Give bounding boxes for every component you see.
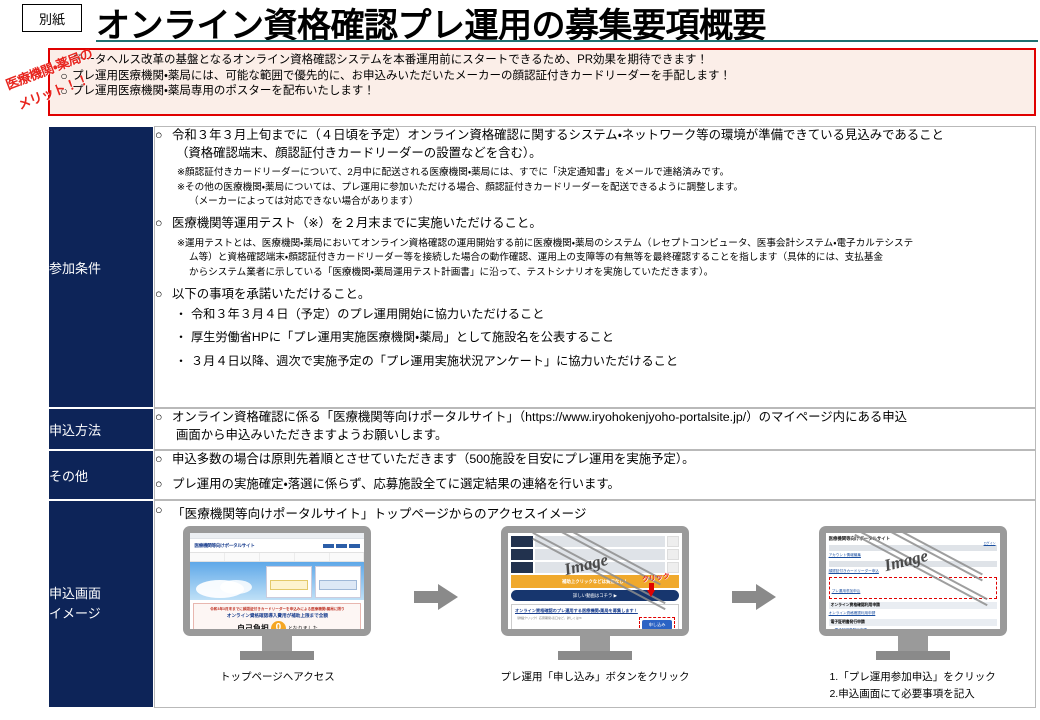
account-edit-link[interactable]: アカウント情報編集 — [829, 553, 997, 558]
condition-1-line2: （資格確認端末、顔認証付きカードリーダーの設置などを含む）。 — [172, 145, 1035, 163]
hero-cards — [266, 566, 361, 598]
page-body: 医療機関等向けポータルサイト ログイン アカウント情報編集 顔認証付きカードリー… — [826, 533, 1000, 629]
certificate-issue-link[interactable]: 電子証明書発行申請 — [829, 628, 997, 629]
row-label-line1: 申込画面 — [49, 584, 153, 604]
row-content-conditions: ○ 令和３年３月上旬までに（４日頃を予定）オンライン資格確認に関するシステム・ネ… — [154, 126, 1036, 408]
note-1-line1: ※顔認証付きカードリーダーについて、2月中に配送される医療機関・薬局には、すでに… — [177, 167, 729, 178]
bullet-text: ３月４日以降、週次で実施予定の「プレ運用実施状況アンケート」に協力いただけること — [191, 353, 678, 369]
card-reader-apply-link[interactable]: 顔認証付きカードリーダー申込 — [829, 569, 997, 574]
hero-card — [266, 566, 312, 598]
condition-3-bullets: ・ 令和３年３月４日（予定）のプレ運用開始に協力いただけること ・ 厚生労働省H… — [175, 306, 1035, 369]
circle-bullet-icon: ○ — [155, 215, 172, 233]
apply-button[interactable]: 申し込み — [642, 620, 673, 630]
bullet-item: ・ 令和３年３月４日（予定）のプレ運用開始に協力いただけること — [175, 306, 1035, 322]
others-text: プレ運用の実施確定・落選に係らず、応募施設全てに選定結果の連絡を行います。 — [172, 476, 1035, 494]
hero-banner — [190, 562, 364, 600]
promo-tail-text: となりました — [288, 625, 318, 630]
circle-bullet-icon: ○ — [56, 85, 72, 98]
header-buttons — [323, 544, 360, 548]
mypage-title: 医療機関等向けポータルサイト — [829, 536, 997, 542]
access-flow: 医療機関等向けポータルサイト — [155, 526, 1035, 703]
hero-card — [315, 566, 361, 598]
condition-item-1: ○ 令和３年３月上旬までに（４日頃を予定）オンライン資格確認に関するシステム・ネ… — [155, 127, 1035, 162]
table-row-others: その他 ○ 申込多数の場合は原則先着順とさせていただきます（500施設を目安にプ… — [48, 450, 1036, 500]
pre-operation-link[interactable]: オンライン資格確認のプレ運用する医療機関・薬局を募集します！ — [515, 608, 675, 614]
merit-item-text: プレ運用医療機関・薬局には、可能な範囲で優先的に、お申込みいただいたメーカーの顔… — [72, 70, 731, 82]
requirements-table: 参加条件 ○ 令和３年３月上旬までに（４日頃を予定）オンライン資格確認に関するシ… — [48, 126, 1036, 708]
online-verification-link[interactable]: オンライン資格確認利用申請 — [829, 611, 997, 616]
condition-3-text: 以下の事項を承諾いただけること。 — [172, 286, 1035, 304]
pre-operation-apply-highlight: プレ運用参加申込 — [829, 577, 997, 599]
promo-zero-badge: 0 — [271, 621, 286, 630]
section-bar — [829, 545, 997, 551]
row-label-text: 申込方法 — [49, 420, 153, 439]
others-text: 申込多数の場合は原則先着順とさせていただきます（500施設を目安にプレ運用を実施… — [172, 451, 1035, 469]
flow-step-3: 医療機関等向けポータルサイト ログイン アカウント情報編集 顔認証付きカードリー… — [798, 526, 1028, 703]
monitor-stand-neck — [262, 636, 292, 651]
promo-banner: 令和3年3月末までに顔認証付きカードリーダーを申込みによる医療機関・薬局に限り … — [193, 603, 361, 629]
note-2-line1: ※運用テストとは、医療機関・薬局においてオンライン資格確認の運用開始する前に医療… — [177, 238, 913, 249]
row-label-text: その他 — [49, 466, 153, 485]
row-content-others: ○ 申込多数の場合は原則先着順とさせていただきます（500施設を目安にプレ運用を… — [154, 450, 1036, 500]
portal-top-page-screenshot: 医療機関等向けポータルサイト — [190, 533, 364, 629]
condition-2-notes: ※運用テストとは、医療機関・薬局においてオンライン資格確認の運用開始する前に医療… — [177, 237, 1035, 280]
dot-bullet-icon: ・ — [175, 306, 191, 322]
merit-box: ○ データヘルス改革の基盤となるオンライン資格確認システムを本番運用前にスタート… — [48, 48, 1036, 116]
circle-bullet-icon: ○ — [155, 286, 172, 304]
monitor-frame: 医療機関等向けポータルサイト — [183, 526, 371, 636]
bullet-text: 厚生労働省HPに「プレ運用実施医療機関・薬局」として施設名を公表すること — [191, 329, 614, 345]
flow-step-2: 補助上クリックなどは負担なし！ 詳しい動画はコチラ ▶ オンライン資格確認のプレ… — [480, 526, 710, 686]
site-header: 医療機関等向けポータルサイト — [190, 539, 364, 552]
monitor-3: 医療機関等向けポータルサイト ログイン アカウント情報編集 顔認証付きカードリー… — [819, 526, 1007, 660]
note-1-line2: ※その他の医療機関・薬局については、プレ運用に参加いただける場合、顔認証付きカー… — [177, 182, 743, 193]
condition-1-notes: ※顔認証付きカードリーダーについて、2月中に配送される医療機関・薬局には、すでに… — [177, 166, 1035, 209]
apply-button-page-screenshot: 補助上クリックなどは負担なし！ 詳しい動画はコチラ ▶ オンライン資格確認のプレ… — [508, 533, 682, 629]
merit-item: ○ プレ運用医療機関・薬局専用のポスターを配布いたします！ — [56, 85, 1034, 98]
table-row-apply-screen: 申込画面 イメージ ○ 「医療機関等向けポータルサイト」トップページからのアクセ… — [48, 500, 1036, 708]
merit-item-text: プレ運用医療機関・薬局専用のポスターを配布いたします！ — [72, 85, 375, 97]
merit-item: ○ プレ運用医療機関・薬局には、可能な範囲で優先的に、お申込みいただいたメーカー… — [56, 70, 1034, 83]
circle-bullet-icon: ○ — [155, 476, 172, 494]
mypage-screenshot: 医療機関等向けポータルサイト ログイン アカウント情報編集 顔認証付きカードリー… — [826, 533, 1000, 629]
section-heading: オンライン資格確認利用申請 — [829, 602, 997, 609]
table-row-conditions: 参加条件 ○ 令和３年３月上旬までに（４日頃を予定）オンライン資格確認に関するシ… — [48, 126, 1036, 408]
monitor-frame: 医療機関等向けポータルサイト ログイン アカウント情報編集 顔認証付きカードリー… — [819, 526, 1007, 636]
condition-item-2: ○ 医療機関等運用テスト（※）を２月末までに実施いただけること。 — [155, 215, 1035, 233]
step-2-caption: プレ運用「申し込み」ボタンをクリック — [500, 669, 689, 686]
merit-item: ○ データヘルス改革の基盤となるオンライン資格確認システムを本番運用前にスタート… — [56, 54, 1034, 67]
login-link[interactable]: ログイン — [984, 541, 996, 545]
row-label-text: 参加条件 — [49, 258, 153, 277]
arrow-right-icon — [732, 584, 776, 610]
flow-step-1: 医療機関等向けポータルサイト — [162, 526, 392, 686]
monitor-2: 補助上クリックなどは負担なし！ 詳しい動画はコチラ ▶ オンライン資格確認のプレ… — [501, 526, 689, 660]
note-2-line3: からシステム業者に示している「医療機関・薬局運用テスト計画書」に沿って、テストシ… — [177, 266, 1035, 280]
title-divider — [96, 40, 1038, 42]
table-row-apply-method: 申込方法 ○ オンライン資格確認に係る「医療機関等向けポータルサイト」（http… — [48, 408, 1036, 450]
row-label-line2: イメージ — [49, 604, 153, 624]
promo-big-text: 自己負担 — [237, 623, 269, 630]
monitor-stand-base — [240, 651, 314, 660]
step-3-caption: 1.「プレ運用参加申込」をクリック 2.申込画面にて必要事項を記入 — [829, 669, 995, 703]
condition-2-text: 医療機関等運用テスト（※）を２月末までに実施いただけること。 — [172, 215, 1035, 233]
flow-arrow-1 — [407, 526, 465, 610]
monitor-stand-base — [558, 651, 632, 660]
others-item: ○ プレ運用の実施確定・落選に係らず、応募施設全てに選定結果の連絡を行います。 — [155, 476, 1035, 494]
apply-button-highlight: 申し込み — [639, 617, 675, 629]
circle-bullet-icon: ○ — [155, 409, 172, 427]
note-2-line2: ム等）と資格確認端末・顔認証付きカードリーダー等を接続した場合の動作確認、運用上… — [177, 251, 1035, 265]
document-header: 別紙 オンライン資格確認プレ運用の募集要項概要 — [0, 0, 1040, 42]
section-heading: 電子証明書発行申請 — [829, 619, 997, 626]
monitor-1: 医療機関等向けポータルサイト — [183, 526, 371, 660]
pre-operation-notice-box: オンライン資格確認のプレ運用する医療機関・薬局を募集します！ （詳細クリック）応… — [511, 604, 679, 629]
site-name: 医療機関等向けポータルサイト — [194, 543, 254, 549]
apply-method-item: ○ オンライン資格確認に係る「医療機関等向けポータルサイト」（https://w… — [155, 409, 1035, 444]
row-content-apply-screen: ○ 「医療機関等向けポータルサイト」トップページからのアクセスイメージ 医療機関… — [154, 500, 1036, 708]
row-label-conditions: 参加条件 — [48, 126, 154, 408]
step-1-caption: トップページへアクセス — [220, 669, 335, 686]
apply-method-line2: 画面から申込みいただきますようお願いします。 — [172, 427, 1035, 445]
circle-bullet-icon: ○ — [155, 127, 172, 145]
monitor-stand-base — [876, 651, 950, 660]
step-3-caption-line2: 2.申込画面にて必要事項を記入 — [829, 686, 995, 703]
condition-1-line1: 令和３年３月上旬までに（４日頃を予定）オンライン資格確認に関するシステム・ネット… — [172, 128, 944, 142]
promo-main-text: オンライン資格確認導入費用が補助上限まで全額 — [227, 613, 328, 619]
bullet-item: ・ ３月４日以降、週次で実施予定の「プレ運用実施状況アンケート」に協力いただける… — [175, 353, 1035, 369]
arrow-right-icon — [414, 584, 458, 610]
apply-method-line1: オンライン資格確認に係る「医療機関等向けポータルサイト」（https://www… — [172, 410, 907, 424]
dot-bullet-icon: ・ — [175, 353, 191, 369]
row-label-apply-method: 申込方法 — [48, 408, 154, 450]
row-label-apply-screen: 申込画面 イメージ — [48, 500, 154, 708]
circle-bullet-icon: ○ — [155, 503, 172, 517]
besshi-label: 別紙 — [22, 4, 82, 32]
merit-section: ○ データヘルス改革の基盤となるオンライン資格確認システムを本番運用前にスタート… — [0, 45, 1040, 121]
bullet-text: 令和３年３月４日（予定）のプレ運用開始に協力いただけること — [191, 306, 544, 322]
monitor-frame: 補助上クリックなどは負担なし！ 詳しい動画はコチラ ▶ オンライン資格確認のプレ… — [501, 526, 689, 636]
arrow-down-icon — [647, 583, 656, 597]
row-content-apply-method: ○ オンライン資格確認に係る「医療機関等向けポータルサイト」（https://w… — [154, 408, 1036, 450]
section-bar — [829, 561, 997, 567]
step-3-caption-line1: 1.「プレ運用参加申込」をクリック — [829, 669, 995, 686]
promo-small-text: 令和3年3月末までに顔認証付きカードリーダーを申込みによる医療機関・薬局に限り — [210, 607, 344, 612]
apply-screen-heading-text: 「医療機関等向けポータルサイト」トップページからのアクセスイメージ — [172, 503, 586, 522]
cloud-icon — [220, 580, 252, 594]
others-item: ○ 申込多数の場合は原則先着順とさせていただきます（500施設を目安にプレ運用を… — [155, 451, 1035, 469]
bullet-item: ・ 厚生労働省HPに「プレ運用実施医療機関・薬局」として施設名を公表すること — [175, 329, 1035, 345]
dot-bullet-icon: ・ — [175, 329, 191, 345]
monitor-stand-neck — [580, 636, 610, 651]
flow-arrow-2 — [725, 526, 783, 610]
monitor-stand-neck — [898, 636, 928, 651]
note-1-line3: （メーカーによっては対応できない場合があります） — [177, 195, 1035, 209]
condition-item-3: ○ 以下の事項を承諾いただけること。 — [155, 286, 1035, 304]
merit-item-text: データヘルス改革の基盤となるオンライン資格確認システムを本番運用前にスタートでき… — [72, 54, 708, 66]
row-label-others: その他 — [48, 450, 154, 500]
circle-bullet-icon: ○ — [155, 451, 172, 469]
pre-operation-apply-link[interactable]: プレ運用参加申込 — [832, 589, 861, 593]
circle-bullet-icon: ○ — [56, 70, 72, 83]
circle-bullet-icon: ○ — [56, 54, 72, 67]
apply-screen-heading: ○ 「医療機関等向けポータルサイト」トップページからのアクセスイメージ — [155, 503, 1035, 522]
site-nav — [190, 552, 364, 562]
